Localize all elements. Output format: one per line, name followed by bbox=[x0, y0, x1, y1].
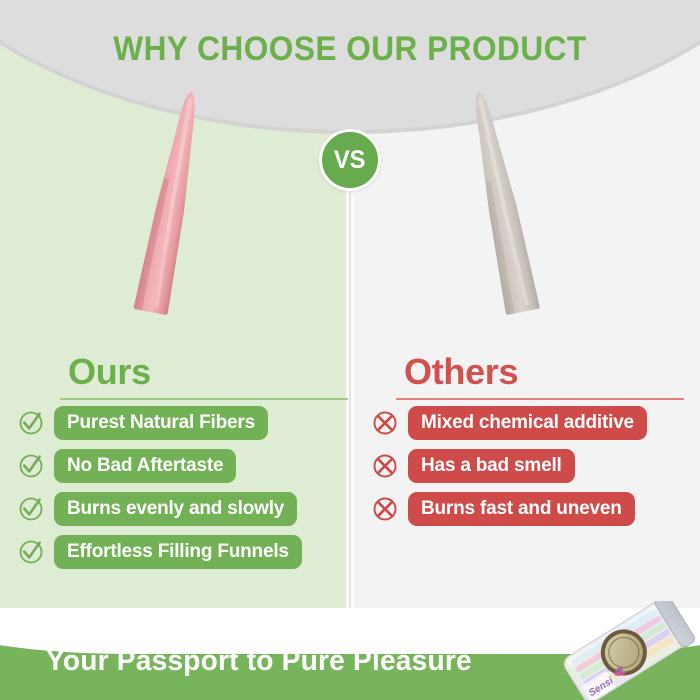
vs-label: VS bbox=[334, 148, 366, 173]
list-item: Mixed chemical additive bbox=[372, 406, 692, 440]
others-drawback-pill: Burns fast and uneven bbox=[408, 492, 635, 526]
check-circle-icon bbox=[18, 496, 44, 522]
x-circle-icon bbox=[372, 496, 398, 522]
ours-feature-pill: Purest Natural Fibers bbox=[54, 406, 268, 440]
ours-feature-pill: No Bad Aftertaste bbox=[54, 449, 236, 483]
list-item: Has a bad smell bbox=[372, 449, 692, 483]
list-item: Burns evenly and slowly bbox=[18, 492, 348, 526]
others-feature-list: Mixed chemical additive Has a bad smell … bbox=[372, 406, 692, 535]
list-item: Effortless Filling Funnels bbox=[18, 535, 348, 569]
page-title: WHY CHOOSE OUR PRODUCT bbox=[25, 30, 676, 69]
footer-tagline: Your Passport to Pure Pleasure bbox=[46, 645, 472, 678]
list-item: Burns fast and uneven bbox=[372, 492, 692, 526]
vs-divider-line bbox=[349, 175, 351, 615]
ours-feature-list: Purest Natural Fibers No Bad Aftertaste … bbox=[18, 406, 348, 578]
ours-heading-rule bbox=[60, 398, 348, 400]
check-circle-icon bbox=[18, 539, 44, 565]
others-drawback-pill: Mixed chemical additive bbox=[408, 406, 647, 440]
ours-feature-pill: Effortless Filling Funnels bbox=[54, 535, 302, 569]
check-circle-icon bbox=[18, 410, 44, 436]
infographic-canvas: WHY CHOOSE OUR PRODUCT bbox=[0, 0, 700, 700]
product-jar-image: Sensi bbox=[548, 601, 698, 700]
ours-heading: Ours bbox=[68, 351, 151, 393]
ours-feature-pill: Burns evenly and slowly bbox=[54, 492, 297, 526]
others-heading-rule bbox=[396, 398, 684, 400]
x-circle-icon bbox=[372, 453, 398, 479]
x-circle-icon bbox=[372, 410, 398, 436]
check-circle-icon bbox=[18, 453, 44, 479]
list-item: No Bad Aftertaste bbox=[18, 449, 348, 483]
vs-badge: VS bbox=[319, 129, 381, 191]
list-item: Purest Natural Fibers bbox=[18, 406, 348, 440]
others-drawback-pill: Has a bad smell bbox=[408, 449, 575, 483]
others-heading: Others bbox=[404, 351, 518, 393]
